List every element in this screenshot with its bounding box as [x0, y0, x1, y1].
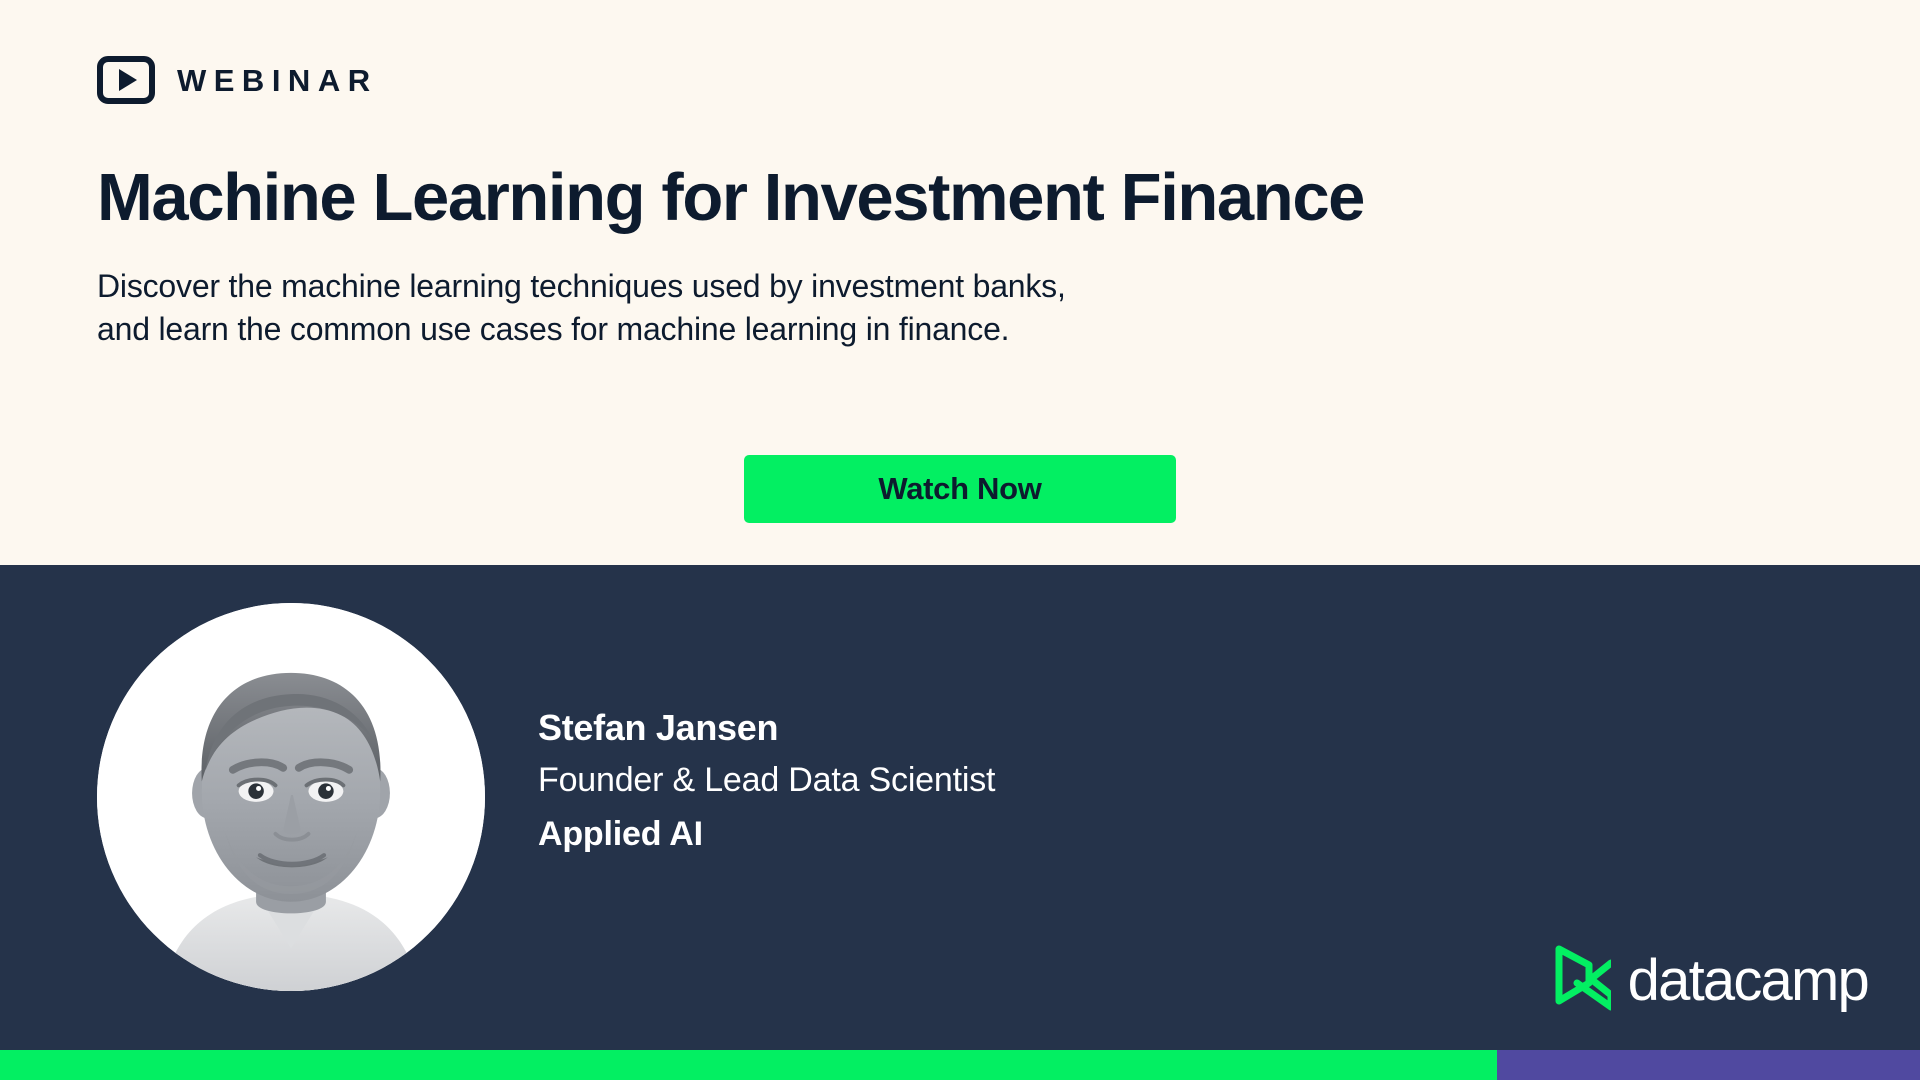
speaker-section: Stefan Jansen Founder & Lead Data Scient… [0, 565, 1920, 1080]
play-triangle-icon [119, 69, 137, 91]
datacamp-logo-mark-icon [1555, 945, 1611, 1017]
bottom-accent-bar [0, 1050, 1920, 1080]
webinar-badge: WEBINAR [97, 56, 1920, 104]
accent-bar-green [0, 1050, 1497, 1080]
page-title: Machine Learning for Investment Finance [97, 162, 1920, 233]
avatar [97, 603, 485, 991]
speaker-info: Stefan Jansen Founder & Lead Data Scient… [538, 705, 995, 859]
speaker-headshot-image [97, 603, 485, 991]
webinar-promo-banner: WEBINAR Machine Learning for Investment … [0, 0, 1920, 1080]
watch-now-button[interactable]: Watch Now [744, 455, 1176, 523]
speaker-company: Applied AI [538, 810, 995, 859]
speaker-name: Stefan Jansen [538, 705, 995, 752]
accent-bar-purple [1497, 1050, 1920, 1080]
speaker-role: Founder & Lead Data Scientist [538, 756, 995, 805]
datacamp-wordmark: datacamp [1628, 952, 1868, 1010]
hero-section: WEBINAR Machine Learning for Investment … [0, 0, 1920, 565]
play-video-icon [97, 56, 155, 104]
subtitle-line-1: Discover the machine learning techniques… [97, 265, 1427, 308]
datacamp-logo: datacamp [1555, 945, 1868, 1017]
webinar-badge-label: WEBINAR [177, 65, 378, 96]
subtitle-line-2: and learn the common use cases for machi… [97, 308, 1427, 351]
cta-container: Watch Now [744, 455, 1176, 523]
page-subtitle: Discover the machine learning techniques… [97, 265, 1427, 350]
